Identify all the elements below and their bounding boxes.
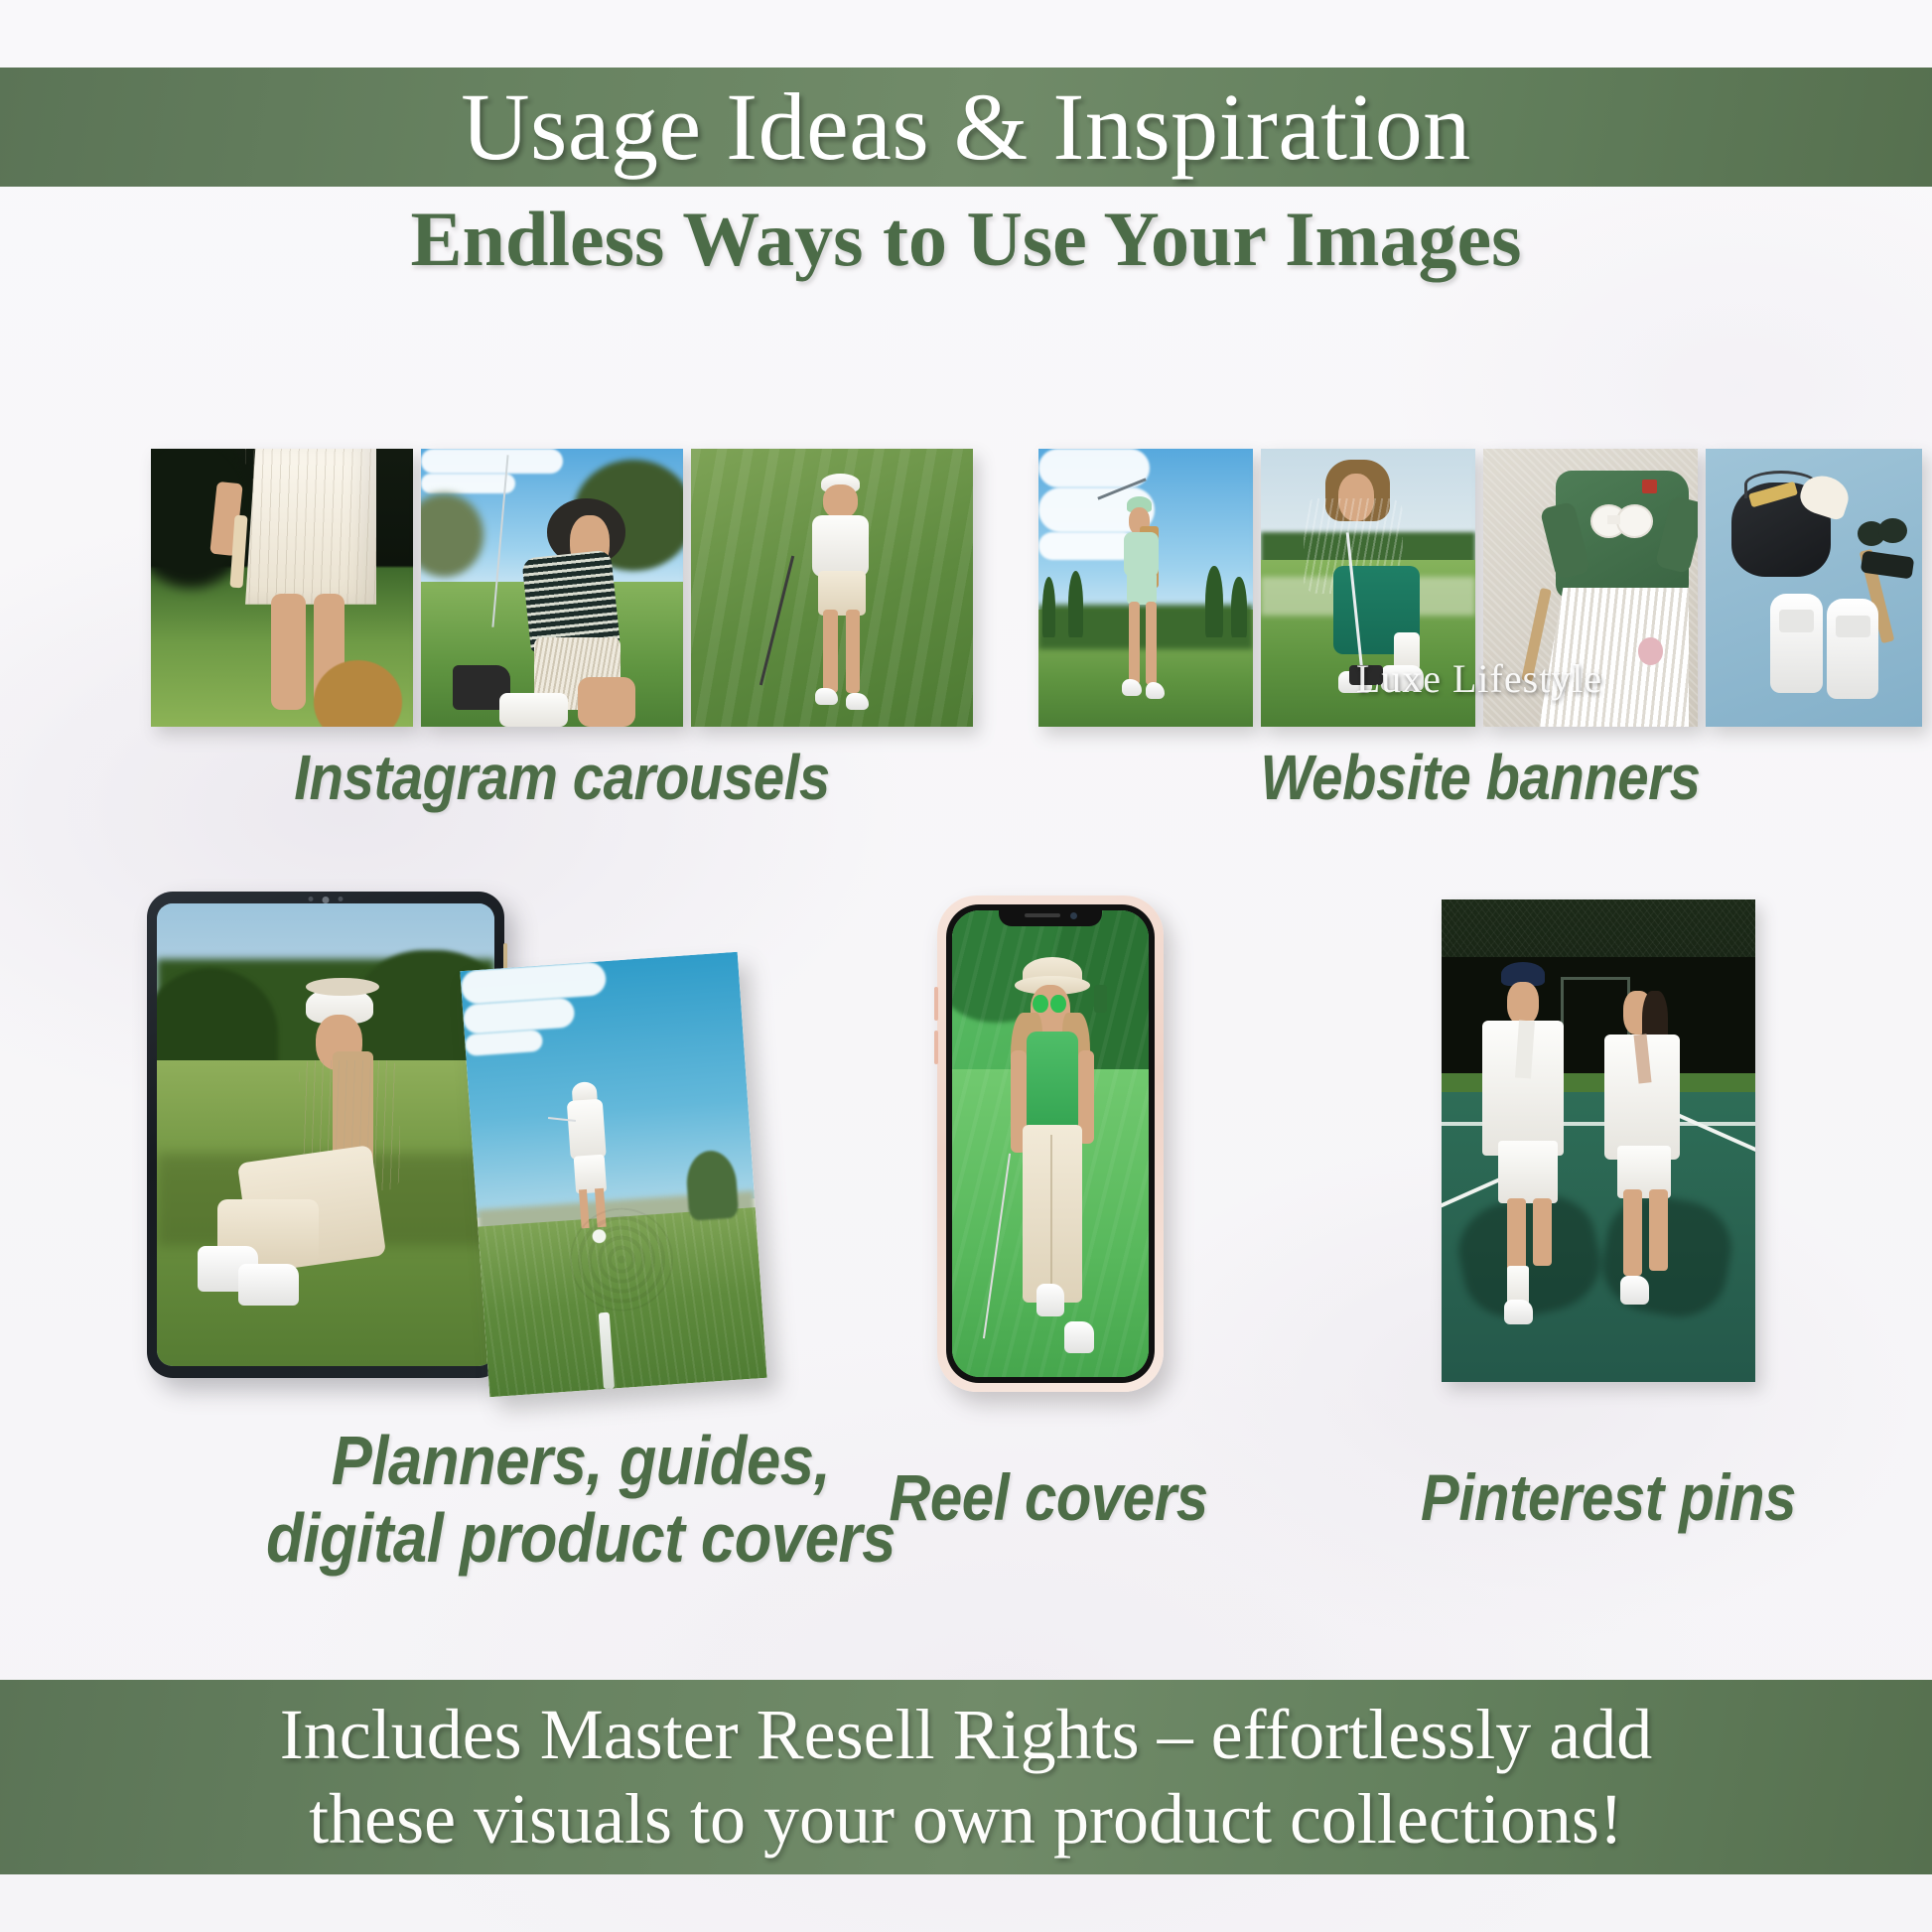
phone-volume-down-button[interactable] [934,1031,938,1064]
phone-mockup [937,896,1164,1392]
website-banner-image-4 [1706,449,1922,727]
instagram-carousel-image-1 [151,449,413,727]
banner-overlay-text: Luxe Lifestyle [1261,655,1698,702]
caption-pinterest-pins: Pinterest pins [1372,1461,1844,1535]
header-banner: Usage Ideas & Inspiration [0,68,1932,187]
instagram-carousel-image-2 [421,449,683,727]
phone-screen-image [952,910,1149,1377]
footer-text: Includes Master Resell Rights – effortle… [240,1693,1692,1862]
caption-reel-covers: Reel covers [848,1461,1250,1535]
phone-front-camera-icon [1070,912,1077,919]
print-photo-card [460,952,766,1397]
website-banner-image-1 [1038,449,1253,727]
tablet-camera-dots [309,897,344,903]
caption-instagram-carousels: Instagram carousels [201,743,924,814]
tablet-screen-image [157,903,494,1366]
caption-planners-line1: Planners, guides, [332,1422,831,1499]
footer-line-2: these visuals to your own product collec… [309,1779,1623,1859]
page-title: Usage Ideas & Inspiration [461,79,1471,175]
tablet-mockup [147,892,504,1378]
caption-website-banners: Website banners [1091,743,1868,814]
footer-line-1: Includes Master Resell Rights – effortle… [280,1695,1652,1774]
phone-volume-up-button[interactable] [934,987,938,1021]
caption-planners-line2: digital product covers [266,1499,896,1577]
phone-speaker-slot [1025,913,1060,917]
pinterest-pin-image [1442,899,1755,1382]
phone-notch [999,904,1102,926]
page-subtitle: Endless Ways to Use Your Images [0,195,1932,284]
instagram-carousel-image-3 [691,449,973,727]
footer-banner: Includes Master Resell Rights – effortle… [0,1680,1932,1874]
